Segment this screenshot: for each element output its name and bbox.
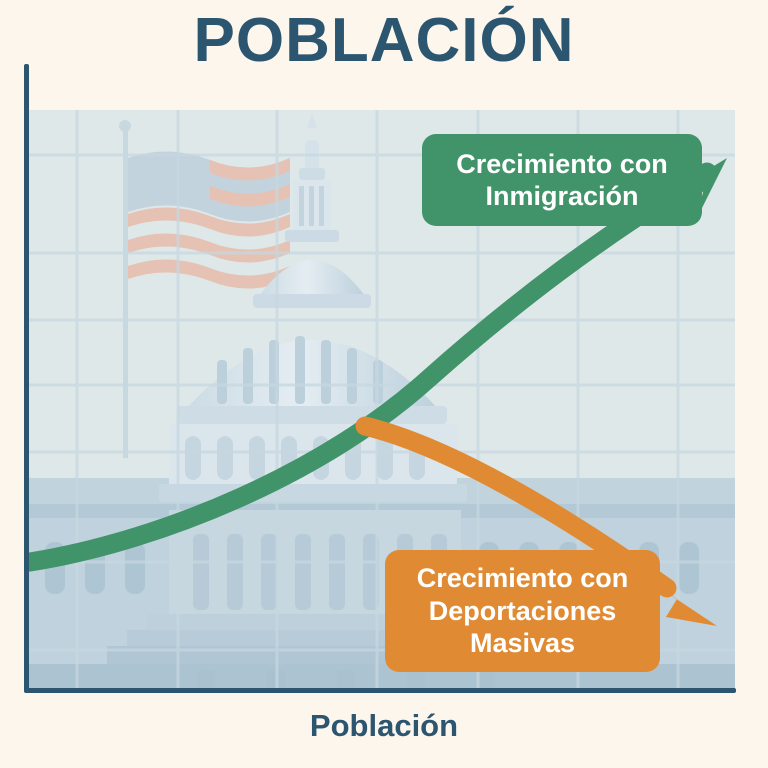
- callout-growth-with-mass-deportations: Crecimiento con Deportaciones Masivas: [385, 550, 660, 672]
- x-axis-line: [24, 688, 736, 693]
- infographic-canvas: POBLACIÓN: [0, 0, 768, 768]
- y-axis-line: [24, 64, 29, 692]
- x-axis-label: Población: [0, 708, 768, 744]
- callout-growth-with-immigration: Crecimiento con Inmigración: [422, 134, 702, 226]
- page-title: POBLACIÓN: [0, 8, 768, 73]
